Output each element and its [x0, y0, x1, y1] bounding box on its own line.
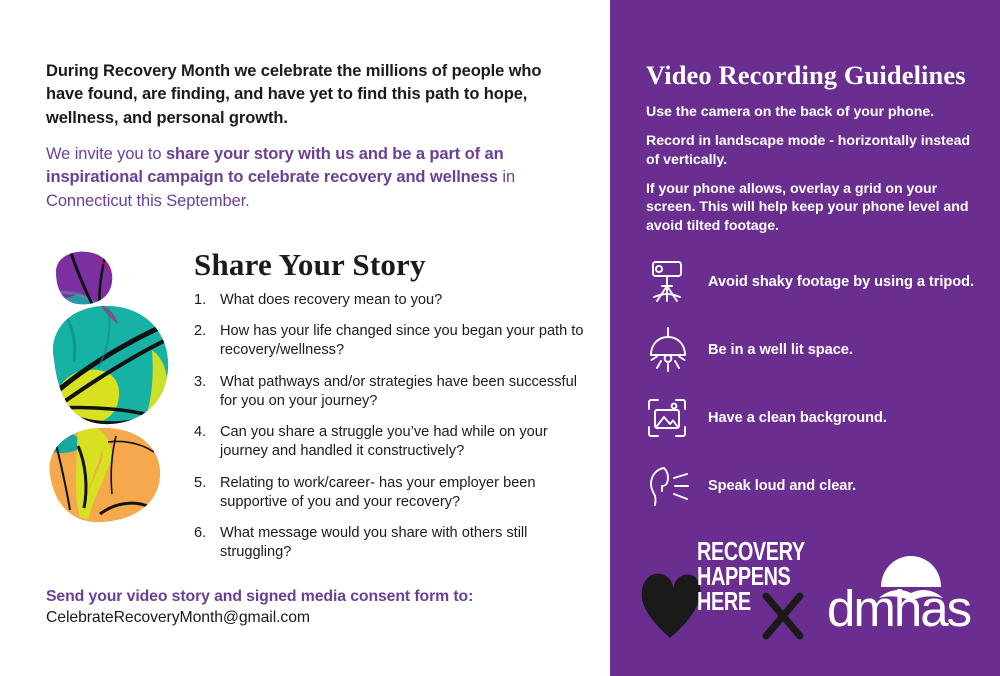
question-number: 3. [194, 373, 220, 411]
question-number: 6. [194, 524, 220, 562]
icon-tip-row-tripod: Avoid shaky footage by using a tripod. [646, 248, 986, 316]
question-text: How has your life changed since you bega… [220, 322, 586, 360]
list-item: 4. Can you share a struggle you’ve had w… [194, 423, 586, 461]
logo-line-2: HAPPENS [697, 565, 805, 590]
intro-purple-paragraph: We invite you to share your story with u… [46, 143, 546, 213]
blob-purple [40, 250, 190, 310]
icon-tip-label: Have a clean background. [702, 409, 887, 427]
icon-tip-row-audio: Speak loud and clear. [646, 452, 986, 520]
question-text: What does recovery mean to you? [220, 291, 586, 310]
blob-teal [40, 300, 190, 430]
icon-tip-row-background: Have a clean background. [646, 384, 986, 452]
send-instructions-heading: Send your video story and signed media c… [46, 588, 586, 606]
question-number: 2. [194, 322, 220, 360]
speaking-head-icon [646, 464, 702, 508]
video-guidelines-panel: Video Recording Guidelines Use the camer… [610, 0, 1000, 676]
questions-list: 1. What does recovery mean to you? 2. Ho… [194, 291, 586, 575]
left-content-panel: During Recovery Month we celebrate the m… [0, 0, 610, 676]
brochure-page: During Recovery Month we celebrate the m… [0, 0, 1000, 676]
logo-line-3: HERE [697, 590, 805, 615]
intro-bold-paragraph: During Recovery Month we celebrate the m… [46, 60, 571, 130]
contact-email[interactable]: CelebrateRecoveryMonth@gmail.com [46, 609, 586, 627]
list-item: 1. What does recovery mean to you? [194, 291, 586, 310]
image-frame-icon [646, 397, 702, 439]
list-item: 6. What message would you share with oth… [194, 524, 586, 562]
question-text: Can you share a struggle you’ve had whil… [220, 423, 586, 461]
dmhas-logo: dmhas [825, 545, 975, 641]
video-tips-list: Use the camera on the back of your phone… [646, 103, 976, 246]
tripod-icon [646, 259, 702, 305]
question-text: What pathways and/or strategies have bee… [220, 373, 586, 411]
question-text: Relating to work/career- has your employ… [220, 474, 586, 512]
dmhas-wordmark: dmhas [827, 583, 970, 634]
logo-line-1: RECOVERY [697, 540, 805, 565]
list-item: 2. How has your life changed since you b… [194, 322, 586, 360]
recovery-happens-here-logo: RECOVERY HAPPENS HERE [640, 538, 830, 642]
recovery-happens-here-wordmark: RECOVERY HAPPENS HERE [697, 540, 805, 616]
icon-tip-label: Be in a well lit space. [702, 341, 853, 359]
list-item: 5. Relating to work/career- has your emp… [194, 474, 586, 512]
list-item: 3. What pathways and/or strategies have … [194, 373, 586, 411]
share-your-story-title: Share Your Story [194, 247, 426, 283]
video-tip: Record in landscape mode - horizontally … [646, 132, 976, 169]
icon-tip-label: Avoid shaky footage by using a tripod. [702, 273, 974, 291]
question-number: 5. [194, 474, 220, 512]
icon-tips-list: Avoid shaky footage by using a tripod. [646, 248, 986, 520]
video-tip: Use the camera on the back of your phone… [646, 103, 976, 121]
intro-lead-text: We invite you to [46, 145, 166, 163]
question-number: 4. [194, 423, 220, 461]
icon-tip-row-lighting: Be in a well lit space. [646, 316, 986, 384]
decorative-blobs-graphic [40, 250, 190, 535]
question-text: What message would you share with others… [220, 524, 586, 562]
question-number: 1. [194, 291, 220, 310]
blob-orange [40, 420, 190, 535]
video-tip: If your phone allows, overlay a grid on … [646, 180, 976, 235]
video-guidelines-title: Video Recording Guidelines [646, 60, 986, 91]
icon-tip-label: Speak loud and clear. [702, 477, 856, 495]
lamp-icon [646, 327, 702, 373]
